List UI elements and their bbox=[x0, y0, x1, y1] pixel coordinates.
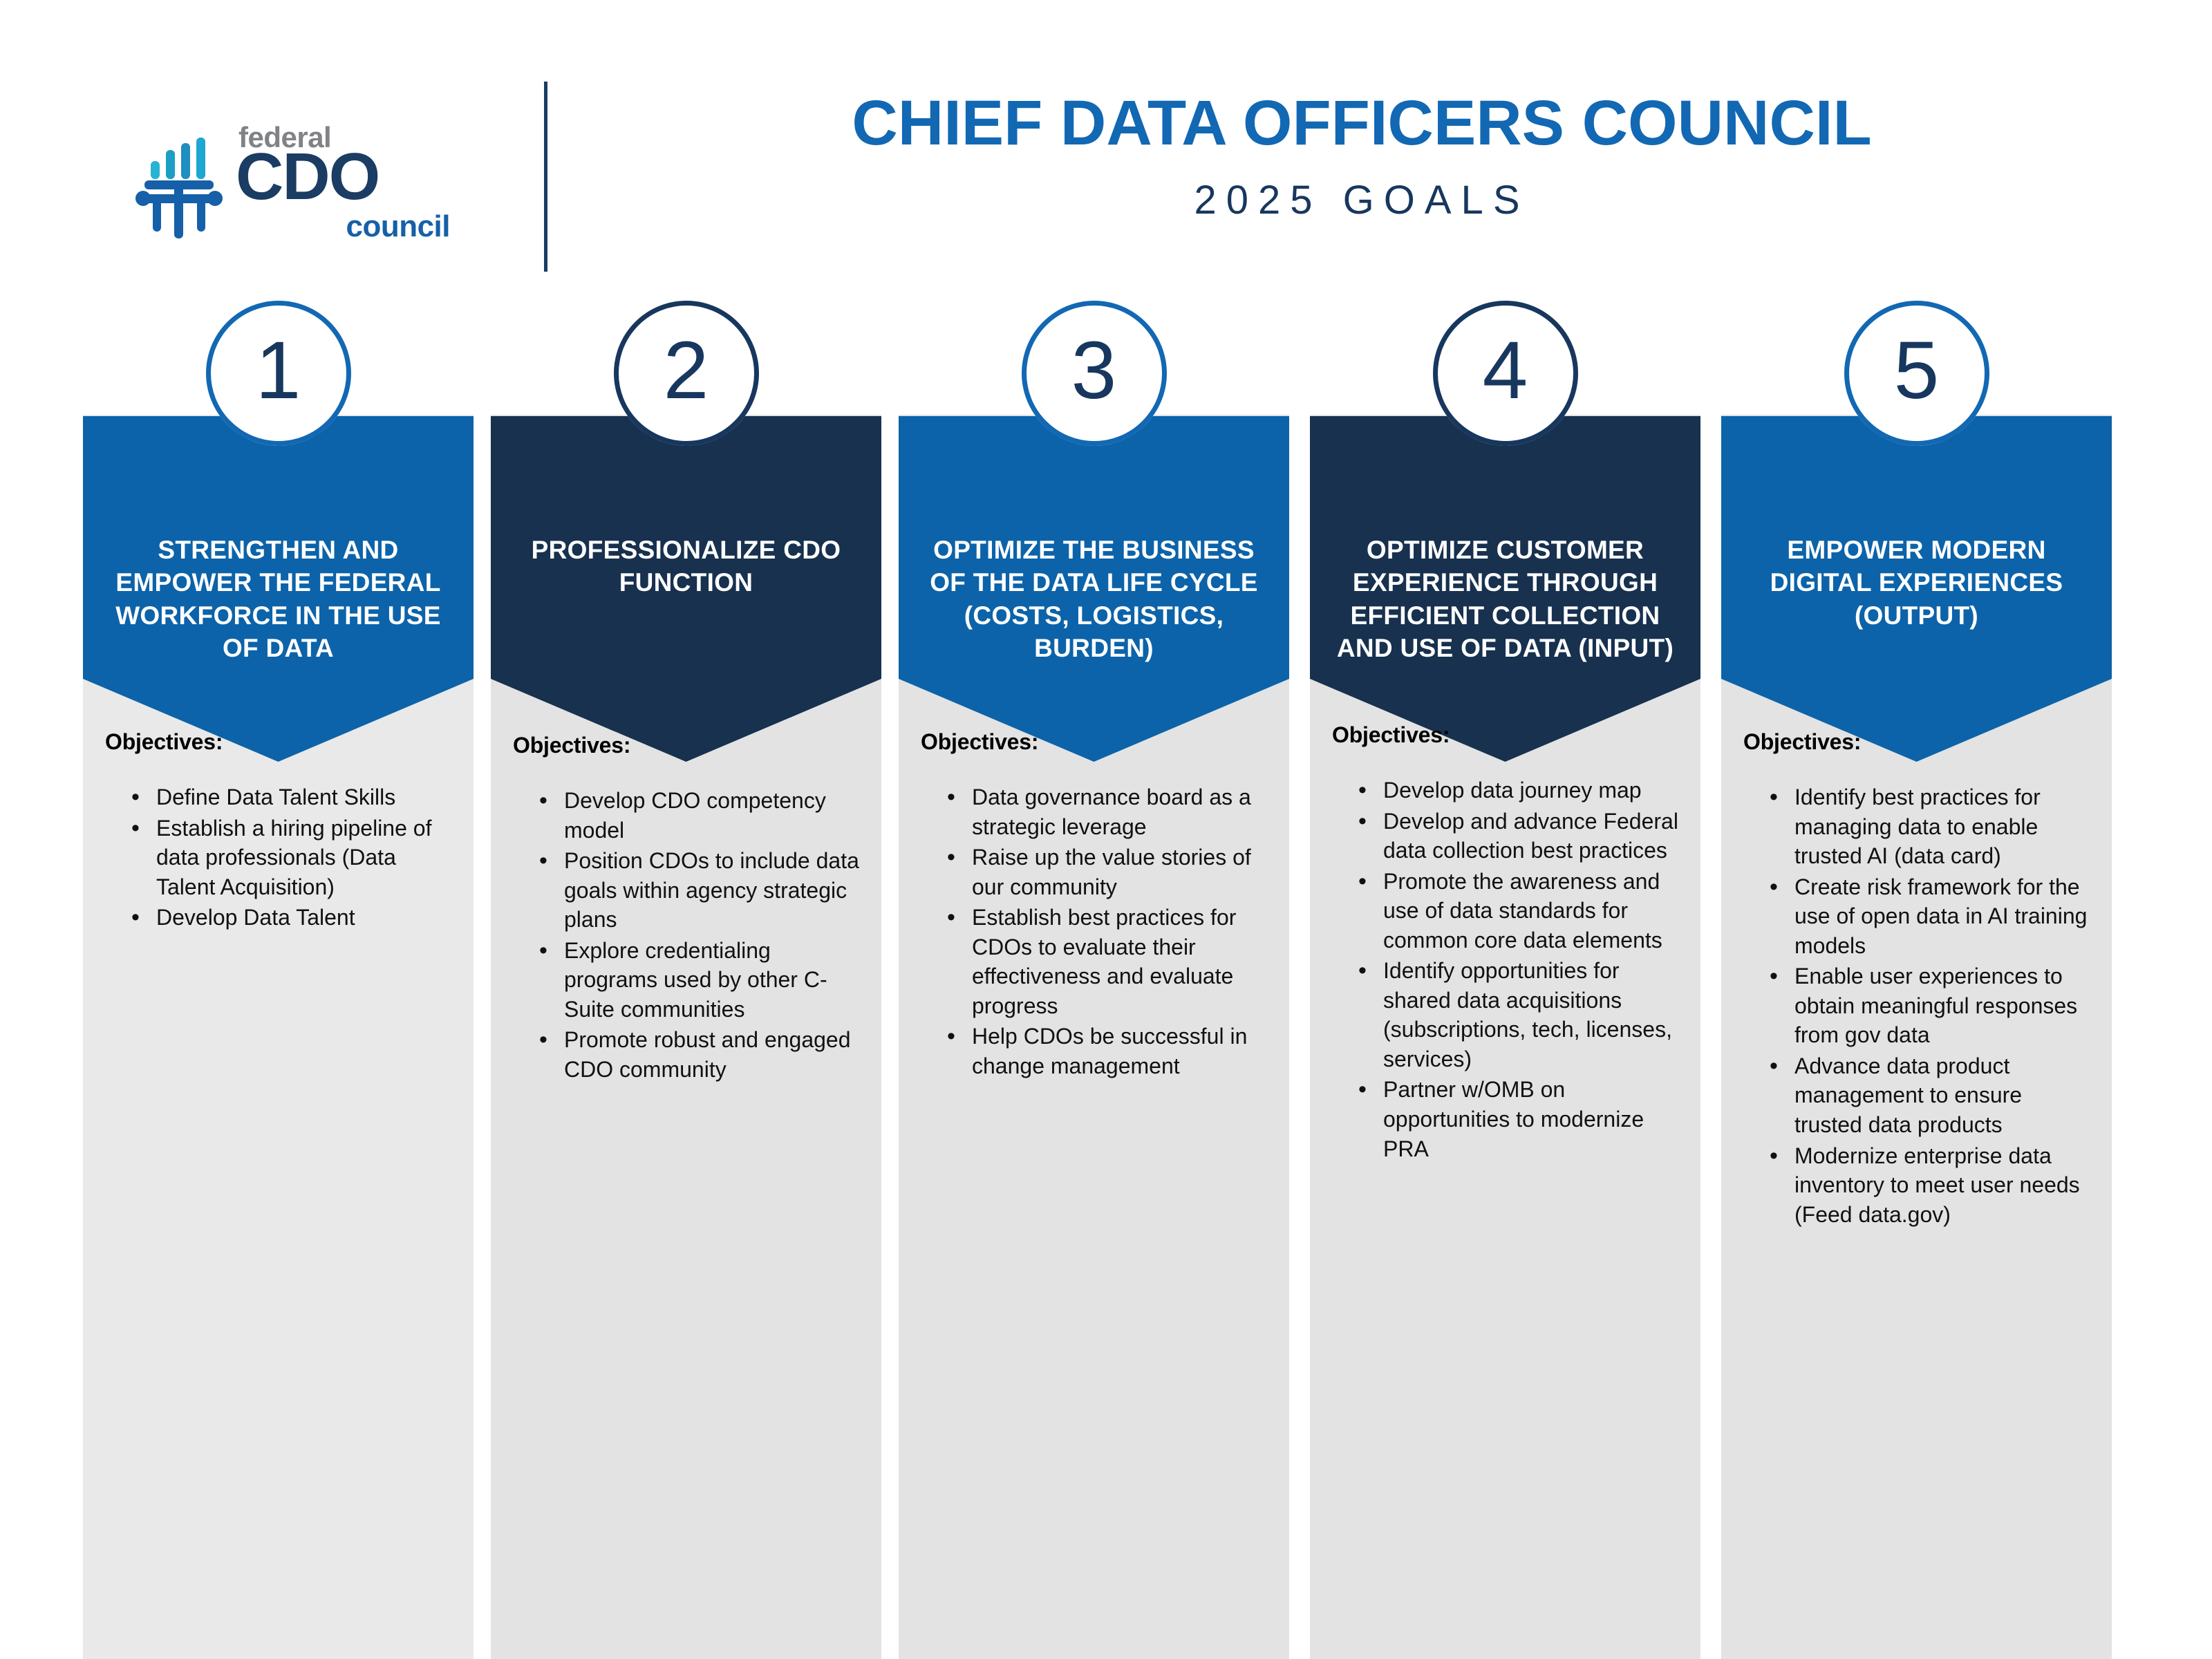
objectives-list: Data governance board as a strategic lev… bbox=[921, 782, 1268, 1080]
objective-item: Develop and advance Federal data collect… bbox=[1368, 807, 1680, 865]
goal-number-badge-1: 1 bbox=[206, 301, 351, 446]
objective-item: Identify opportunities for shared data a… bbox=[1368, 956, 1680, 1074]
page-header: federal CDO council CHIEF DATA OFFICERS … bbox=[0, 0, 2212, 297]
page-subtitle: 2025 GOALS bbox=[567, 180, 2157, 221]
objectives-list: Develop CDO competency modelPosition CDO… bbox=[513, 786, 861, 1084]
objective-item: Develop data journey map bbox=[1368, 776, 1680, 805]
objective-item: Establish a hiring pipeline of data prof… bbox=[141, 814, 453, 902]
goal-title-5: EMPOWER MODERN DIGITAL EXPERIENCES (OUTP… bbox=[1737, 534, 2097, 632]
objective-item: Create risk framework for the use of ope… bbox=[1779, 872, 2091, 961]
objective-item: Modernize enterprise data inventory to m… bbox=[1779, 1141, 2091, 1230]
objectives-block-5: Objectives:Identify best practices for m… bbox=[1721, 729, 2112, 1230]
goal-number-text: 4 bbox=[1483, 330, 1528, 411]
goal-number-text: 5 bbox=[1894, 330, 1940, 411]
objectives-label: Objectives: bbox=[1332, 722, 1680, 748]
objectives-label: Objectives: bbox=[105, 729, 453, 755]
goal-number-badge-3: 3 bbox=[1022, 301, 1167, 446]
objective-item: Promote robust and engaged CDO community bbox=[549, 1025, 861, 1084]
objective-item: Develop CDO competency model bbox=[549, 786, 861, 845]
goal-column-1: STRENGTHEN AND EMPOWER THE FEDERAL WORKF… bbox=[83, 297, 474, 1659]
objectives-label: Objectives: bbox=[921, 729, 1268, 755]
goal-column-2: PROFESSIONALIZE CDO FUNCTION2Objectives:… bbox=[491, 297, 881, 1659]
goal-column-3: OPTIMIZE THE BUSINESS OF THE DATA LIFE C… bbox=[899, 297, 1289, 1659]
objectives-label: Objectives: bbox=[513, 733, 861, 758]
logo: federal CDO council bbox=[135, 104, 460, 263]
objectives-block-2: Objectives:Develop CDO competency modelP… bbox=[491, 733, 881, 1085]
objective-item: Advance data product management to ensur… bbox=[1779, 1051, 2091, 1140]
objective-item: Help CDOs be successful in change manage… bbox=[957, 1022, 1268, 1080]
objective-item: Explore credentialing programs used by o… bbox=[549, 936, 861, 1024]
page-title: CHIEF DATA OFFICERS COUNCIL bbox=[567, 90, 2157, 157]
goal-number-badge-4: 4 bbox=[1433, 301, 1578, 446]
objectives-list: Develop data journey mapDevelop and adva… bbox=[1332, 776, 1680, 1163]
objective-item: Enable user experiences to obtain meanin… bbox=[1779, 962, 2091, 1050]
objectives-label: Objectives: bbox=[1743, 729, 2091, 755]
goal-number-badge-2: 2 bbox=[614, 301, 759, 446]
goal-title-1: STRENGTHEN AND EMPOWER THE FEDERAL WORKF… bbox=[99, 534, 458, 664]
objective-item: Identify best practices for managing dat… bbox=[1779, 782, 2091, 871]
objectives-list: Define Data Talent SkillsEstablish a hir… bbox=[105, 782, 453, 932]
objective-item: Develop Data Talent bbox=[141, 903, 453, 932]
goal-column-4: OPTIMIZE CUSTOMER EXPERIENCE THROUGH EFF… bbox=[1310, 297, 1700, 1659]
title-block: CHIEF DATA OFFICERS COUNCIL 2025 GOALS bbox=[567, 90, 2157, 221]
objective-item: Define Data Talent Skills bbox=[141, 782, 453, 812]
goal-number-text: 2 bbox=[664, 330, 709, 411]
goal-columns: STRENGTHEN AND EMPOWER THE FEDERAL WORKF… bbox=[0, 297, 2212, 1659]
logo-council-text: council bbox=[346, 212, 450, 242]
goal-title-4: OPTIMIZE CUSTOMER EXPERIENCE THROUGH EFF… bbox=[1326, 534, 1685, 664]
goal-number-text: 3 bbox=[1071, 330, 1117, 411]
goal-title-3: OPTIMIZE THE BUSINESS OF THE DATA LIFE C… bbox=[915, 534, 1274, 664]
objective-item: Establish best practices for CDOs to eva… bbox=[957, 903, 1268, 1020]
goal-number-badge-5: 5 bbox=[1844, 301, 1989, 446]
objectives-list: Identify best practices for managing dat… bbox=[1743, 782, 2091, 1229]
objectives-block-3: Objectives:Data governance board as a st… bbox=[899, 729, 1289, 1082]
objective-item: Position CDOs to include data goals with… bbox=[549, 846, 861, 935]
goal-column-5: EMPOWER MODERN DIGITAL EXPERIENCES (OUTP… bbox=[1721, 297, 2112, 1659]
header-divider bbox=[544, 82, 547, 272]
objectives-block-4: Objectives:Develop data journey mapDevel… bbox=[1310, 722, 1700, 1165]
goal-number-text: 1 bbox=[256, 330, 301, 411]
goal-title-2: PROFESSIONALIZE CDO FUNCTION bbox=[507, 534, 866, 599]
logo-cdo-text: CDO bbox=[236, 144, 379, 210]
objectives-block-1: Objectives:Define Data Talent SkillsEsta… bbox=[83, 729, 474, 934]
objective-item: Data governance board as a strategic lev… bbox=[957, 782, 1268, 841]
infographic-page: federal CDO council CHIEF DATA OFFICERS … bbox=[0, 0, 2212, 1659]
objective-item: Raise up the value stories of our commun… bbox=[957, 843, 1268, 901]
objective-item: Promote the awareness and use of data st… bbox=[1368, 867, 1680, 955]
pillar-bar-chart-icon bbox=[135, 128, 223, 238]
objective-item: Partner w/OMB on opportunities to modern… bbox=[1368, 1075, 1680, 1163]
